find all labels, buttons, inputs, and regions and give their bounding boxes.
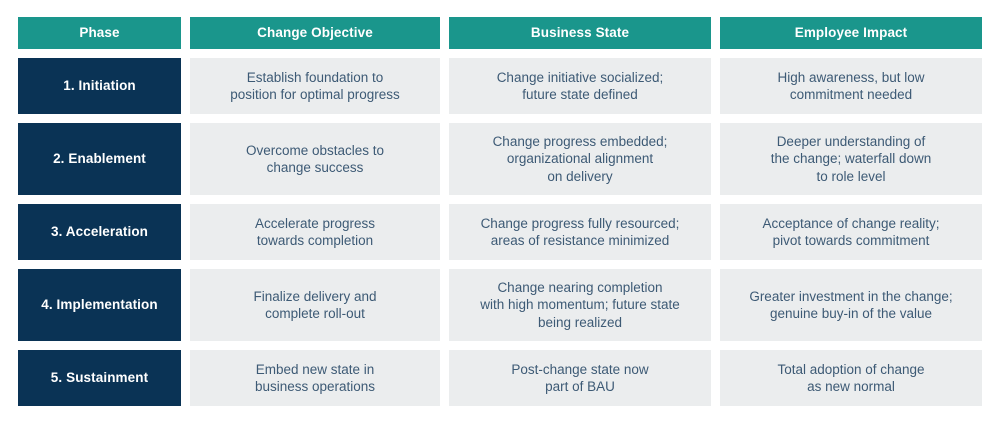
phase-name: 5. Sustainment (51, 369, 148, 386)
employee-impact-text: Deeper understanding of the change; wate… (771, 133, 932, 185)
change-objective-text: Finalize delivery and complete roll-out (253, 288, 376, 323)
table-row: 1. Initiation Establish foundation to po… (18, 58, 980, 114)
column-header-phase: Phase (18, 17, 181, 49)
table-row: 5. Sustainment Embed new state in busine… (18, 350, 980, 406)
text-line: High awareness, but low (777, 69, 924, 86)
phase-name: 3. Acceleration (51, 223, 148, 240)
text-line: on delivery (493, 168, 668, 185)
employee-impact-cell: Greater investment in the change; genuin… (720, 269, 982, 341)
business-state-text: Change progress fully resourced; areas o… (481, 215, 680, 250)
text-line: commitment needed (777, 86, 924, 103)
text-line: part of BAU (511, 378, 648, 395)
employee-impact-text: Greater investment in the change; genuin… (749, 288, 952, 323)
text-line: organizational alignment (493, 150, 668, 167)
phase-label-cell: 1. Initiation (18, 58, 181, 114)
text-line: Change progress embedded; (493, 133, 668, 150)
text-line: with high momentum; future state (480, 296, 680, 313)
change-objective-cell: Finalize delivery and complete roll-out (190, 269, 440, 341)
table-row: 4. Implementation Finalize delivery and … (18, 269, 980, 341)
column-header-business-state-label: Business State (531, 24, 629, 41)
text-line: Change nearing completion (480, 279, 680, 296)
change-objective-cell: Overcome obstacles to change success (190, 123, 440, 195)
column-header-employee-impact-label: Employee Impact (795, 24, 908, 41)
business-state-text: Change nearing completion with high mome… (480, 279, 680, 331)
table-header-row: Phase Change Objective Business State Em… (18, 17, 980, 49)
change-objective-text: Accelerate progress towards completion (255, 215, 375, 250)
business-state-cell: Post-change state now part of BAU (449, 350, 711, 406)
business-state-text: Post-change state now part of BAU (511, 361, 648, 396)
employee-impact-cell: High awareness, but low commitment neede… (720, 58, 982, 114)
business-state-text: Change progress embedded; organizational… (493, 133, 668, 185)
column-header-change-objective: Change Objective (190, 17, 440, 49)
text-line: position for optimal progress (230, 86, 400, 103)
employee-impact-text: Total adoption of change as new normal (777, 361, 924, 396)
phase-label-cell: 2. Enablement (18, 123, 181, 195)
text-line: being realized (480, 314, 680, 331)
phase-label-cell: 5. Sustainment (18, 350, 181, 406)
text-line: areas of resistance minimized (481, 232, 680, 249)
text-line: Change initiative socialized; (497, 69, 664, 86)
business-state-cell: Change progress embedded; organizational… (449, 123, 711, 195)
column-header-business-state: Business State (449, 17, 711, 49)
phase-name: 1. Initiation (63, 77, 136, 94)
change-phases-matrix: Phase Change Objective Business State Em… (0, 0, 1000, 440)
business-state-cell: Change progress fully resourced; areas o… (449, 204, 711, 260)
phase-label-cell: 3. Acceleration (18, 204, 181, 260)
column-header-phase-label: Phase (79, 24, 119, 41)
text-line: to role level (771, 168, 932, 185)
business-state-text: Change initiative socialized; future sta… (497, 69, 664, 104)
text-line: complete roll-out (253, 305, 376, 322)
text-line: Overcome obstacles to (246, 142, 384, 159)
change-objective-text: Embed new state in business operations (255, 361, 375, 396)
table-row: 2. Enablement Overcome obstacles to chan… (18, 123, 980, 195)
text-line: change success (246, 159, 384, 176)
text-line: as new normal (777, 378, 924, 395)
text-line: Accelerate progress (255, 215, 375, 232)
text-line: Finalize delivery and (253, 288, 376, 305)
text-line: Total adoption of change (777, 361, 924, 378)
change-objective-cell: Establish foundation to position for opt… (190, 58, 440, 114)
table-row: 3. Acceleration Accelerate progress towa… (18, 204, 980, 260)
change-objective-text: Overcome obstacles to change success (246, 142, 384, 177)
employee-impact-cell: Deeper understanding of the change; wate… (720, 123, 982, 195)
text-line: Greater investment in the change; (749, 288, 952, 305)
text-line: Deeper understanding of (771, 133, 932, 150)
employee-impact-cell: Total adoption of change as new normal (720, 350, 982, 406)
text-line: pivot towards commitment (762, 232, 939, 249)
text-line: genuine buy-in of the value (749, 305, 952, 322)
phase-name: 2. Enablement (53, 150, 146, 167)
change-objective-text: Establish foundation to position for opt… (230, 69, 400, 104)
change-objective-cell: Embed new state in business operations (190, 350, 440, 406)
employee-impact-text: High awareness, but low commitment neede… (777, 69, 924, 104)
text-line: Change progress fully resourced; (481, 215, 680, 232)
column-header-change-objective-label: Change Objective (257, 24, 373, 41)
change-objective-cell: Accelerate progress towards completion (190, 204, 440, 260)
text-line: future state defined (497, 86, 664, 103)
business-state-cell: Change nearing completion with high mome… (449, 269, 711, 341)
phase-label-cell: 4. Implementation (18, 269, 181, 341)
text-line: Embed new state in (255, 361, 375, 378)
text-line: towards completion (255, 232, 375, 249)
employee-impact-cell: Acceptance of change reality; pivot towa… (720, 204, 982, 260)
text-line: the change; waterfall down (771, 150, 932, 167)
column-header-employee-impact: Employee Impact (720, 17, 982, 49)
text-line: Acceptance of change reality; (762, 215, 939, 232)
text-line: Establish foundation to (230, 69, 400, 86)
business-state-cell: Change initiative socialized; future sta… (449, 58, 711, 114)
text-line: Post-change state now (511, 361, 648, 378)
text-line: business operations (255, 378, 375, 395)
phase-name: 4. Implementation (41, 296, 157, 313)
employee-impact-text: Acceptance of change reality; pivot towa… (762, 215, 939, 250)
